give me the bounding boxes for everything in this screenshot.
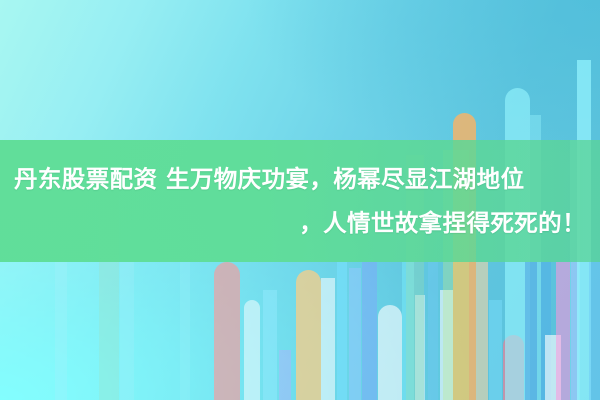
headline-line-2: ，人情世故拿捏得死死的！ (299, 201, 586, 245)
decorative-column (337, 262, 347, 400)
decorative-column (489, 300, 502, 400)
decorative-column (362, 262, 377, 400)
decorative-column (525, 262, 537, 400)
decorative-column (476, 262, 488, 400)
decorative-column (214, 262, 240, 400)
decorative-column (55, 262, 67, 400)
decorative-column (180, 262, 190, 400)
decorative-column (244, 300, 260, 400)
decorative-column (589, 262, 600, 400)
decorative-column (349, 268, 361, 400)
headline-line-1: 丹东股票配资 生万物庆功宴，杨幂尽显江湖地位 (14, 157, 586, 201)
headline-text: 丹东股票配资 生万物庆功宴，杨幂尽显江湖地位 ，人情世故拿捏得死死的！ (0, 140, 600, 262)
decorative-column (321, 278, 335, 400)
decorative-column (296, 270, 321, 400)
decorative-column (378, 305, 402, 400)
decorative-column (428, 262, 438, 400)
banner-image: 丹东股票配资 生万物庆功宴，杨幂尽显江湖地位 ，人情世故拿捏得死死的！ (0, 0, 600, 400)
decorative-column (279, 350, 291, 400)
decorative-column (556, 262, 570, 400)
decorative-column (263, 290, 277, 400)
decorative-column (120, 262, 134, 400)
